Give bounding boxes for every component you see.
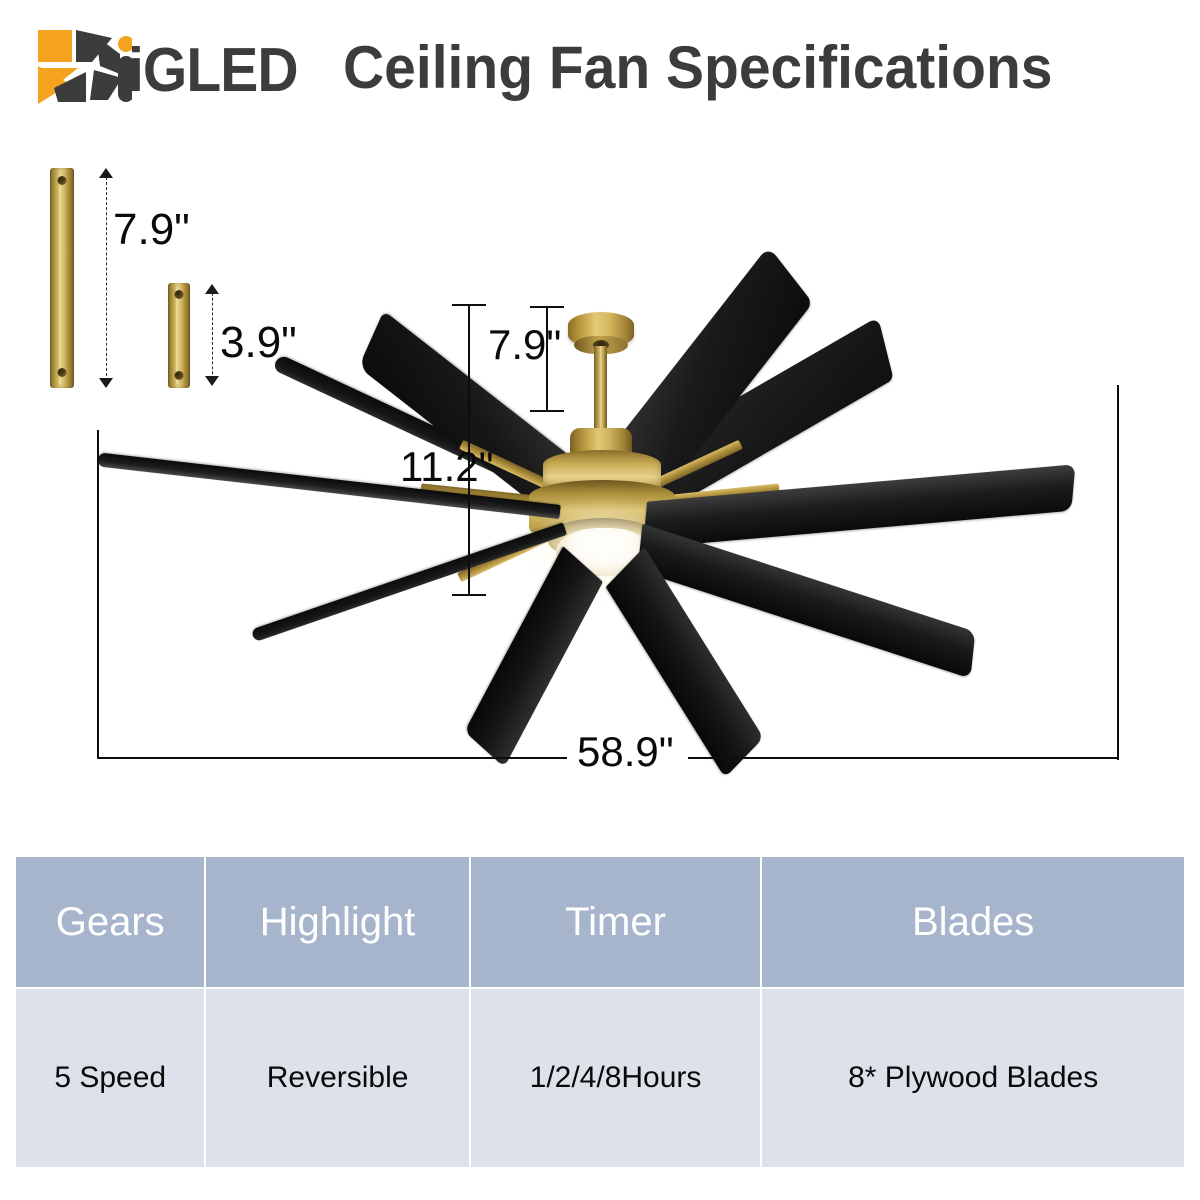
table-cell-highlight-value: Reversible	[206, 989, 468, 1167]
drop-dimension-label: 7.9"	[488, 321, 561, 369]
width-extension-line-left	[97, 430, 99, 758]
total-height-dimension-label: 11.2"	[400, 443, 494, 491]
total-height-tick-bottom	[452, 594, 486, 596]
table-cell-blades-value: 8* Plywood Blades	[762, 989, 1184, 1167]
width-dimension-line-left-segment	[97, 757, 567, 759]
ceiling-fan-illustration	[0, 150, 1200, 790]
width-extension-line-right	[1117, 385, 1119, 760]
brand-name: iGLED	[128, 35, 298, 106]
table-header-timer: Timer	[471, 857, 761, 987]
drop-dimension-tick-bottom	[530, 410, 564, 412]
width-dimension-label: 58.9"	[577, 728, 674, 776]
page-title: Ceiling Fan Specifications	[343, 33, 1052, 102]
table-row: 5 Speed Reversible 1/2/4/8Hours 8* Plywo…	[16, 989, 1184, 1167]
fan-blade-lower-left	[251, 522, 567, 642]
table-header-row: Gears Highlight Timer Blades	[16, 857, 1184, 987]
table-header-highlight: Highlight	[206, 857, 468, 987]
table-header-blades: Blades	[762, 857, 1184, 987]
drop-dimension-tick-top	[530, 306, 564, 308]
specification-sheet: iGLED Ceiling Fan Specifications 7.9" 3.…	[0, 0, 1200, 1200]
table-cell-timer-value: 1/2/4/8Hours	[471, 989, 761, 1167]
specifications-table: Gears Highlight Timer Blades 5 Speed Rev…	[14, 855, 1186, 1169]
table-cell-gears-value: 5 Speed	[16, 989, 204, 1167]
page-header: iGLED Ceiling Fan Specifications	[0, 0, 1200, 130]
table-header-gears: Gears	[16, 857, 204, 987]
shutter-logo-icon	[34, 28, 132, 106]
width-dimension-line-right-segment	[688, 757, 1118, 759]
total-height-tick-top	[452, 304, 486, 306]
